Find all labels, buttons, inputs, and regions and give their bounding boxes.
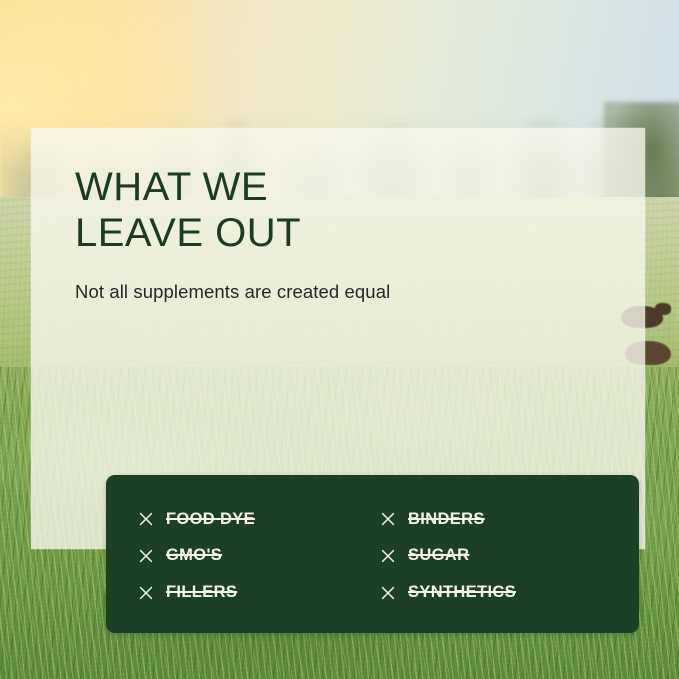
multiplication-x-icon [139, 549, 153, 563]
list-item-label: FILLERS [166, 583, 237, 602]
promo-graphic: WHAT WE LEAVE OUT Not all supplements ar… [0, 0, 679, 679]
page-title-line-1: WHAT WE [75, 164, 609, 210]
multiplication-x-icon [381, 549, 395, 563]
exclusions-card: FOOD DYE BINDERS GMO'S [106, 475, 639, 633]
list-item-label: FOOD DYE [166, 510, 255, 529]
panel-content: WHAT WE LEAVE OUT Not all supplements ar… [75, 164, 609, 519]
page-title-line-2: LEAVE OUT [75, 210, 609, 256]
page-title: WHAT WE LEAVE OUT [75, 164, 609, 257]
multiplication-x-icon [381, 586, 395, 600]
list-item-label: SYNTHETICS [408, 583, 516, 602]
page-subtitle: Not all supplements are created equal [75, 281, 609, 303]
exclusions-list: FOOD DYE BINDERS GMO'S [139, 501, 615, 611]
list-item-label: GMO'S [166, 546, 222, 565]
multiplication-x-icon [381, 512, 395, 526]
list-item: FOOD DYE [139, 501, 373, 538]
list-item-label: BINDERS [408, 510, 485, 529]
list-item: SUGAR [381, 538, 615, 575]
list-item: SYNTHETICS [381, 574, 615, 611]
list-item: BINDERS [381, 501, 615, 538]
content-panel: WHAT WE LEAVE OUT Not all supplements ar… [31, 128, 645, 549]
list-item: GMO'S [139, 538, 373, 575]
multiplication-x-icon [139, 586, 153, 600]
multiplication-x-icon [139, 512, 153, 526]
list-item: FILLERS [139, 574, 373, 611]
list-item-label: SUGAR [408, 546, 469, 565]
